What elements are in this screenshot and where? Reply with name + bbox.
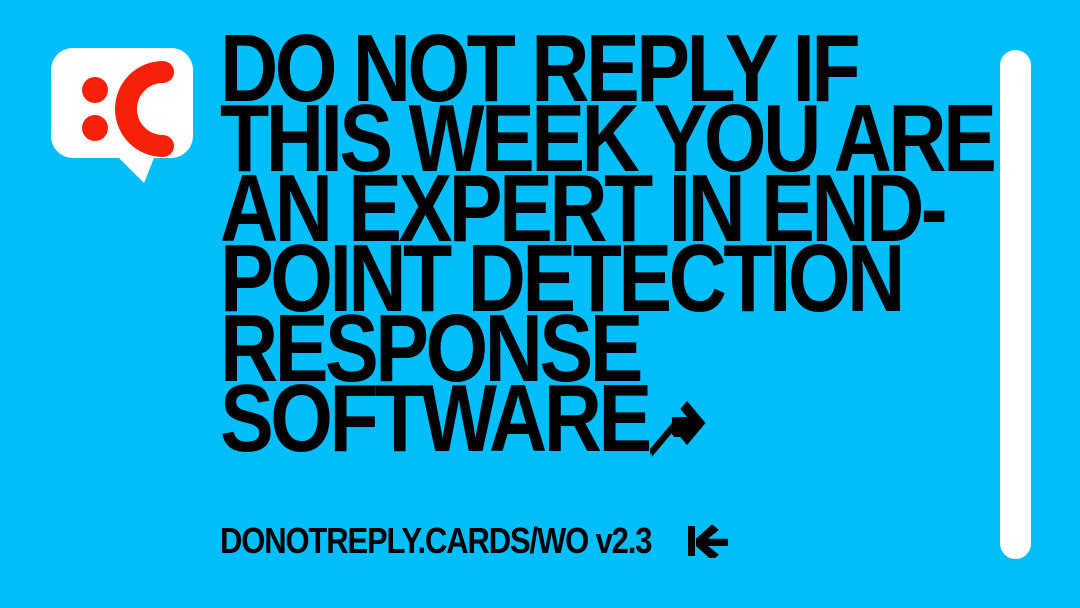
footer: DONOTREPLY.CARDS/WO v2.3 — [220, 521, 730, 561]
logo-eye-dot-lower — [82, 115, 108, 141]
scroll-indicator-track[interactable] — [1000, 50, 1031, 559]
footer-url-label[interactable]: DONOTREPLY.CARDS/WO v2.3 — [220, 523, 651, 559]
arrow-left-to-bar-icon[interactable] — [686, 524, 730, 558]
headline-line-6: SOFTWARE — [220, 384, 808, 454]
scroll-indicator-thumb[interactable] — [1000, 50, 1031, 559]
arrow-up-right-glyph — [650, 397, 707, 457]
speech-bubble-icon — [51, 48, 193, 183]
donotreply-logo[interactable] — [51, 48, 193, 183]
card-root: DO NOT REPLY IF THIS WEEK YOU ARE AN EXP… — [0, 0, 1080, 608]
headline: DO NOT REPLY IF THIS WEEK YOU ARE AN EXP… — [220, 34, 920, 454]
arrow-up-right-icon[interactable] — [650, 397, 707, 457]
logo-eye-dot-upper — [82, 77, 108, 103]
headline-line-6-text: SOFTWARE — [220, 365, 649, 472]
arrow-left-to-bar-glyph — [686, 524, 730, 558]
